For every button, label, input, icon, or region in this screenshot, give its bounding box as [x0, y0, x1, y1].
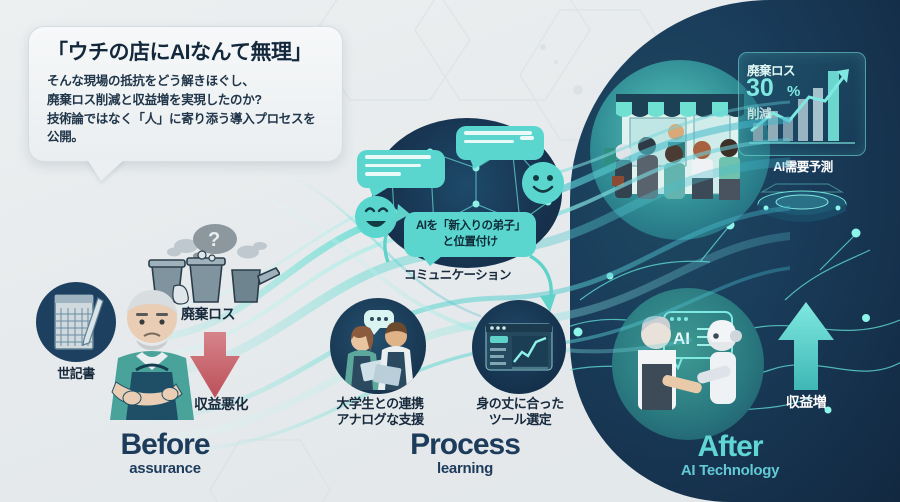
students-caption: 大学生との連携 アナログな支援 [320, 396, 440, 429]
stage-before-title: Before [70, 428, 260, 462]
badge-line-1: AIを「新入りの弟子」 [416, 219, 524, 235]
headline-line-2: 廃棄ロス削減と収益増を実現したのか? [47, 91, 326, 110]
communication-label: コミュニケーション [404, 264, 511, 283]
stage-process-title: Process [370, 428, 560, 462]
headline-title: 「ウチの店にAIなんて無理」 [47, 41, 326, 65]
chat-bubble-icon [456, 126, 544, 160]
students-caption-line-2: アナログな支援 [320, 412, 440, 428]
tool-caption-line-2: ツール選定 [462, 412, 578, 428]
badge-line-2: と位置付け [416, 235, 524, 251]
down-arrow-icon [186, 328, 244, 400]
curved-arrow-up-icon [378, 200, 418, 266]
stage-before-subtitle: assurance [70, 460, 260, 477]
stage-process-subtitle: learning [370, 460, 560, 477]
headline-speech-bubble: 「ウチの店にAIなんて無理」 そんな現場の抵抗をどう解きほぐし、 廃棄ロス削減と… [28, 26, 343, 162]
tool-caption: 身の丈に合った ツール選定 [462, 396, 578, 429]
chat-bubble-icon [357, 150, 445, 188]
svg-text:?: ? [208, 229, 220, 251]
infographic-canvas: 廃棄ロス 30 % 削減 AI需要予測 AI [0, 0, 900, 502]
analytics-dashboard-icon [472, 300, 566, 394]
stage-after-subtitle: AI Technology [630, 462, 830, 479]
smiley-face-icon [522, 162, 564, 204]
tool-caption-line-1: 身の丈に合った [462, 396, 578, 412]
stage-process: Process learning [370, 428, 560, 477]
profit-decline-label: 収益悪化 [176, 396, 266, 414]
students-caption-line-1: 大学生との連携 [320, 396, 440, 412]
headline-line-1: そんな現場の抵抗をどう解きほぐし、 [47, 72, 326, 91]
headline-line-3: 技術論ではなく「人」に寄り添う導入プロセスを公開。 [47, 110, 326, 148]
stage-before: Before assurance [70, 428, 260, 477]
ai-apprentice-badge: AIを「新入りの弟子」 と位置付け [404, 212, 536, 257]
students-with-tablets-icon [330, 298, 426, 394]
